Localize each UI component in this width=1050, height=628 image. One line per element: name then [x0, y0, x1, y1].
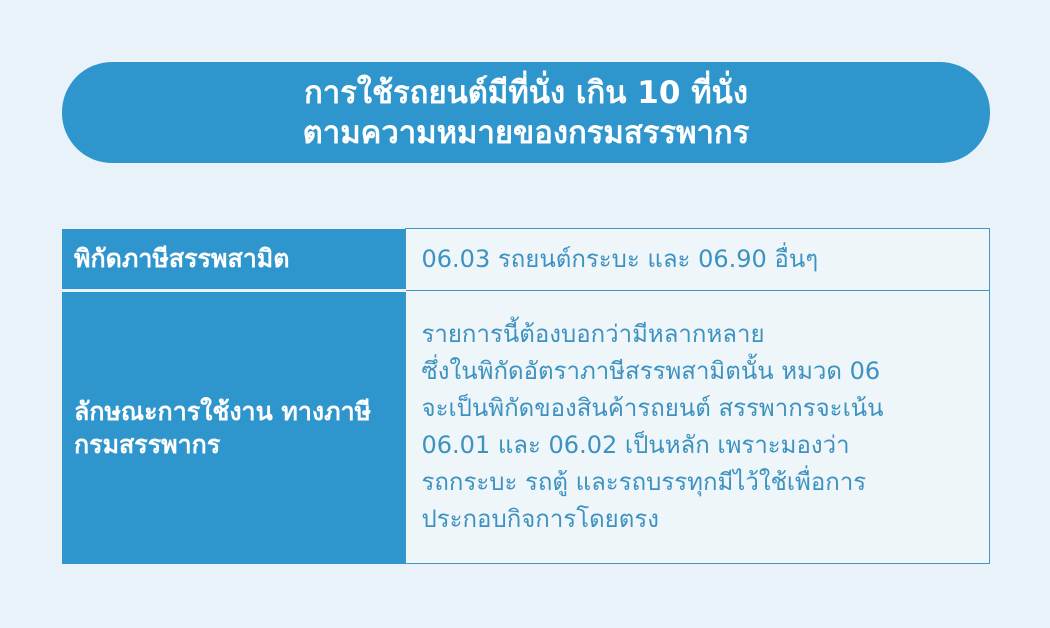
value-line: รายการนี้ต้องบอกว่ามีหลากหลาย: [422, 316, 990, 353]
row-label-line-1: ลักษณะการใช้งาน: [74, 397, 273, 426]
row-value-usage-characteristics: รายการนี้ต้องบอกว่ามีหลากหลาย ซึ่งในพิกั…: [405, 291, 990, 564]
row-label-excise-tariff: พิกัดภาษีสรรพสามิต: [62, 229, 405, 291]
row-label-usage-characteristics: ลักษณะการใช้งาน ทางภาษีกรมสรรพากร: [62, 291, 405, 564]
row-value-excise-tariff: 06.03 รถยนต์กระบะ และ 06.90 อื่นๆ: [405, 229, 990, 291]
value-line: 06.01 และ 06.02 เป็นหลัก เพราะมองว่า: [422, 427, 990, 464]
value-line: ซึ่งในพิกัดอัตราภาษีสรรพสามิตนั้น หมวด 0…: [422, 353, 990, 390]
info-table: พิกัดภาษีสรรพสามิต 06.03 รถยนต์กระบะ และ…: [62, 228, 990, 564]
table-row: ลักษณะการใช้งาน ทางภาษีกรมสรรพากร รายการ…: [62, 291, 990, 564]
header-title-line-1: การใช้รถยนต์มีที่นั่ง เกิน 10 ที่นั่ง: [304, 73, 748, 113]
value-line: 06.03 รถยนต์กระบะ และ 06.90 อื่นๆ: [422, 241, 990, 278]
header-banner: การใช้รถยนต์มีที่นั่ง เกิน 10 ที่นั่ง ตา…: [62, 62, 990, 163]
value-line: รถกระบะ รถตู้ และรถบรรทุกมีไว้ใช้เพื่อกา…: [422, 464, 990, 501]
value-line: จะเป็นพิกัดของสินค้ารถยนต์ สรรพากรจะเน้น: [422, 390, 990, 427]
value-line: ประกอบกิจการโดยตรง: [422, 501, 990, 538]
header-title-line-2: ตามความหมายของกรมสรรพากร: [303, 113, 750, 153]
table-row: พิกัดภาษีสรรพสามิต 06.03 รถยนต์กระบะ และ…: [62, 229, 990, 291]
